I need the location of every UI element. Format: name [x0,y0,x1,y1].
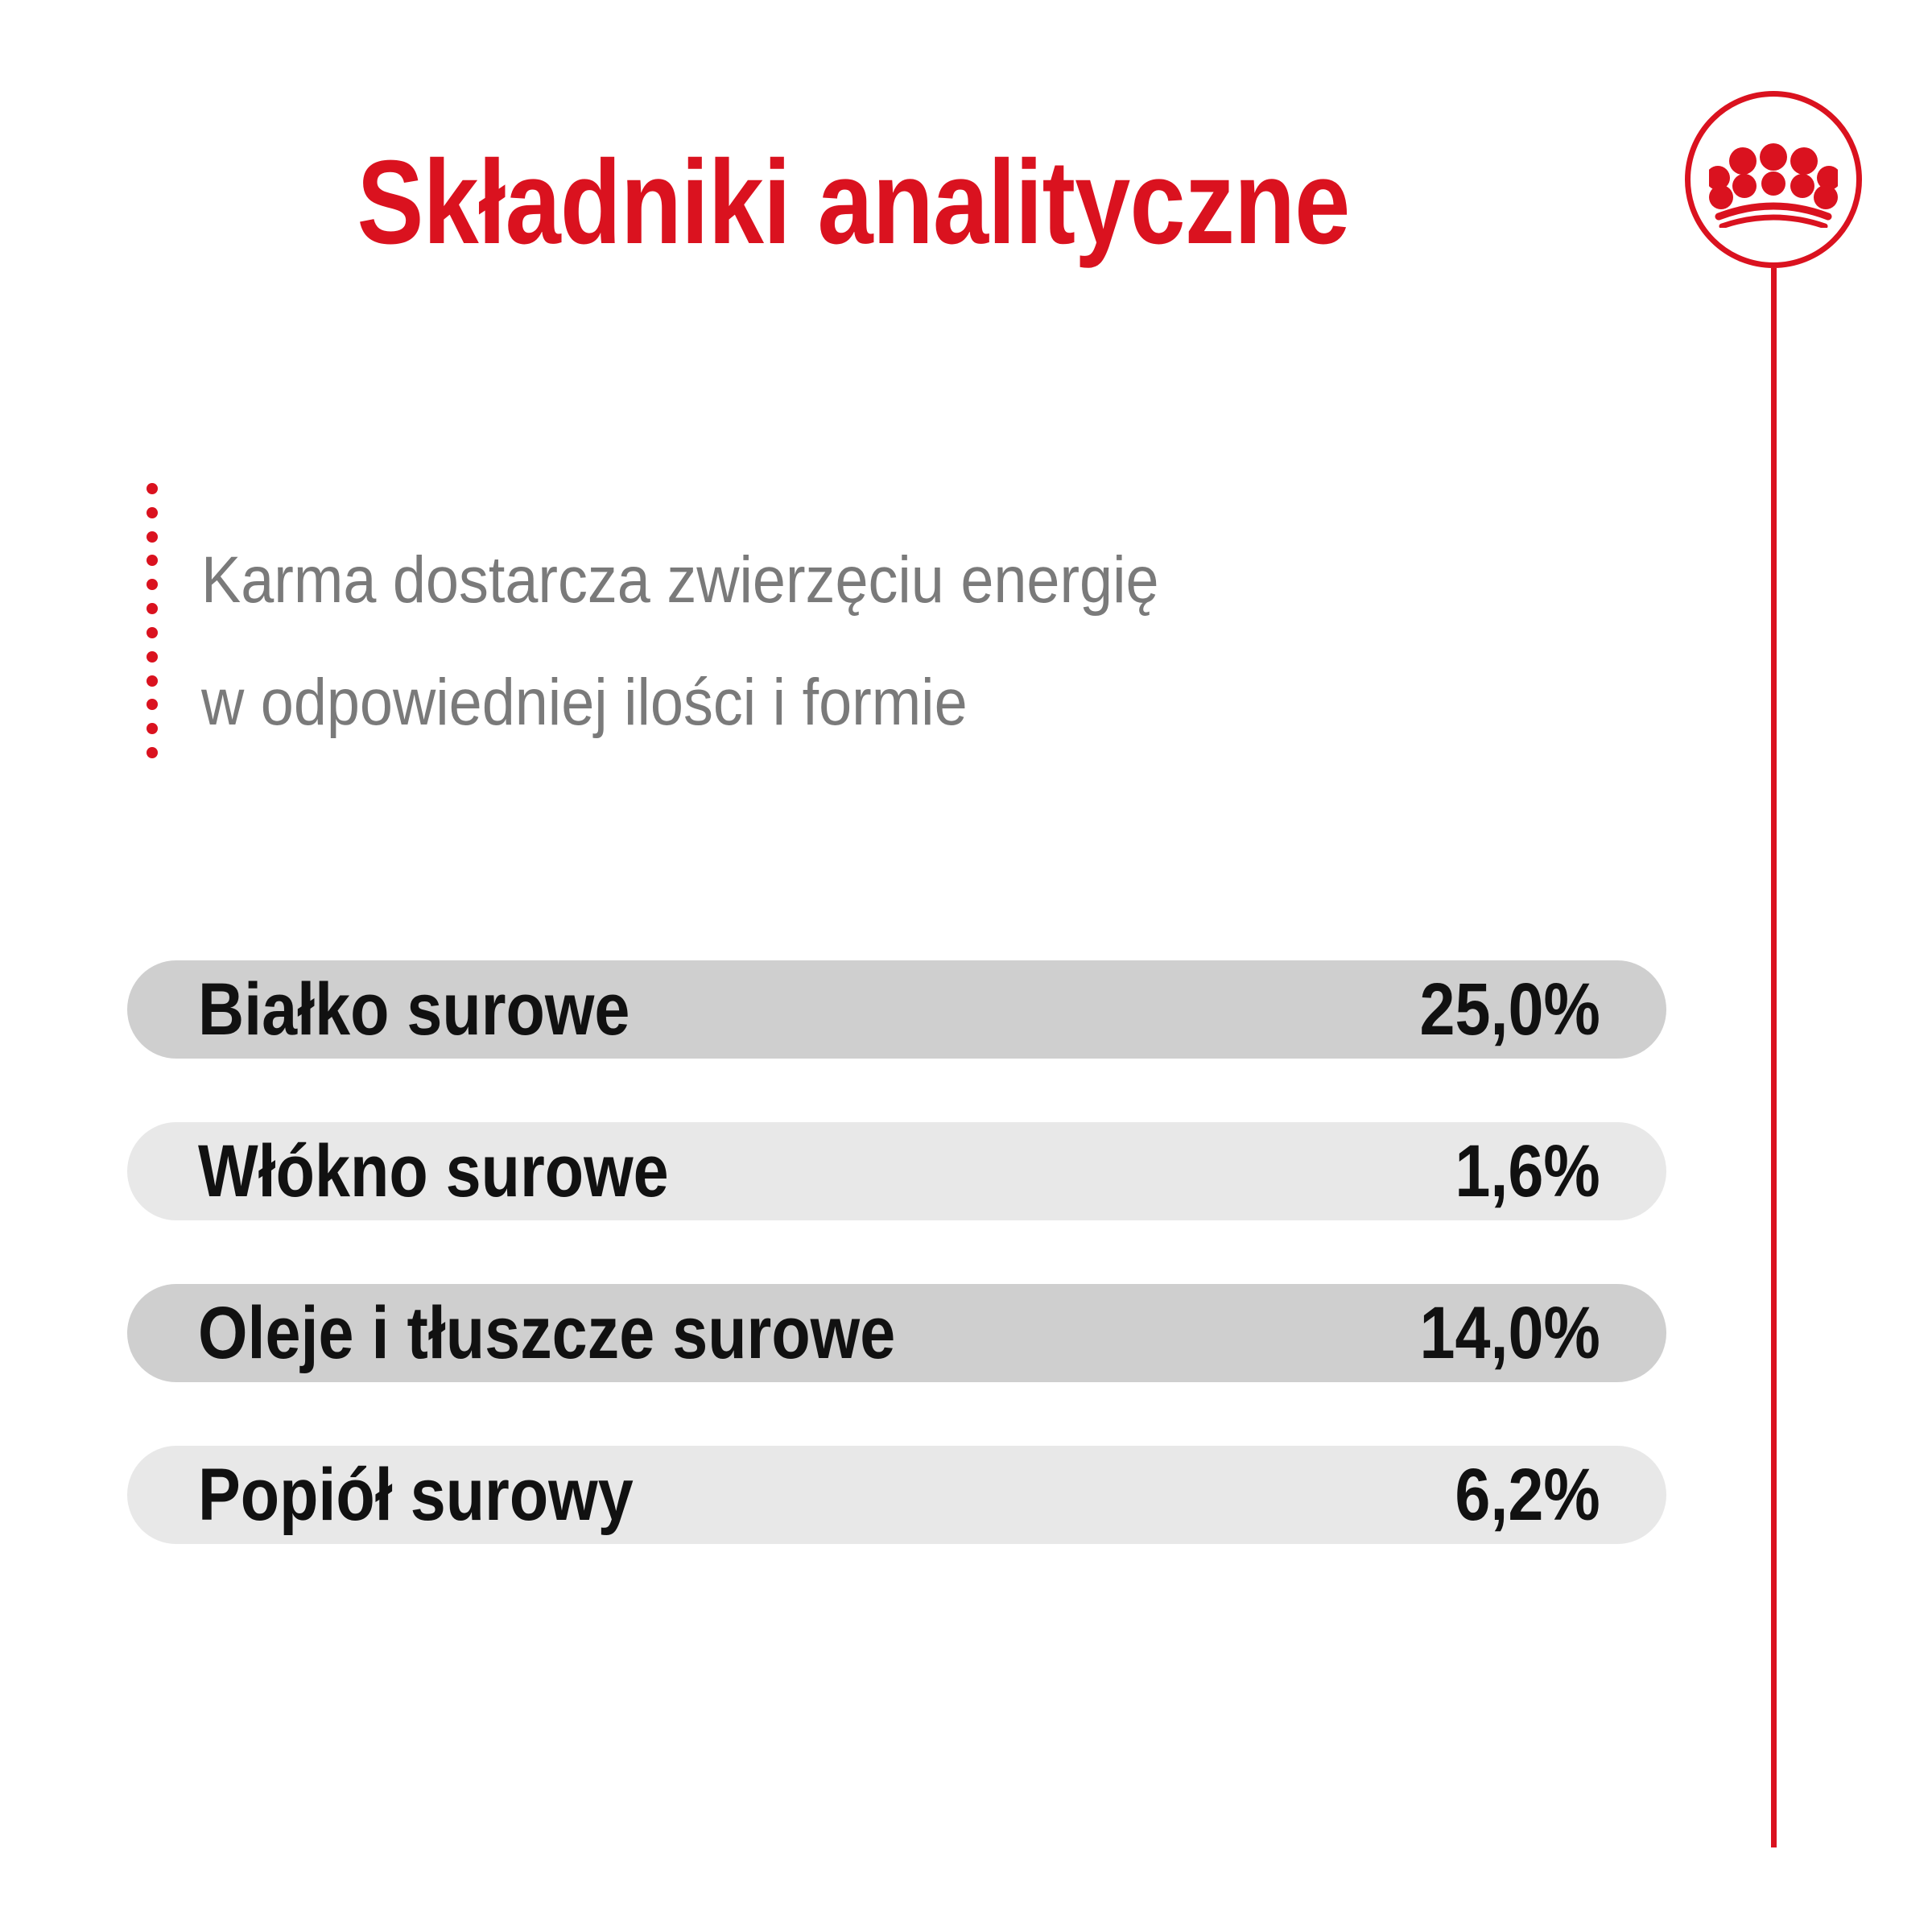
rule-dot [147,651,158,663]
nutrient-value: 25,0% [1420,972,1600,1046]
rule-dot [147,579,158,590]
subtitle: Karma dostarcza zwierzęciu energię w odp… [201,519,1360,764]
rule-dot [147,603,158,614]
nutrient-label: Popiół surowy [198,1458,634,1532]
rule-dot [147,531,158,543]
subtitle-line-2: w odpowiedniej ilości i formie [201,642,1360,764]
table-row: Białko surowe 25,0% [127,960,1666,1059]
subtitle-line-1: Karma dostarcza zwierzęciu energię [201,519,1360,642]
crown-icon [1709,139,1838,228]
rule-dot [147,627,158,638]
table-row: Popiół surowy 6,2% [127,1446,1666,1544]
table-row: Włókno surowe 1,6% [127,1122,1666,1220]
brand-logo [1685,91,1862,268]
nutrient-label: Białko surowe [198,972,630,1046]
rule-dot [147,507,158,518]
rule-dot [147,723,158,734]
rule-dot [147,483,158,494]
nutrient-value: 6,2% [1455,1458,1600,1532]
analytical-constituents-card: Składniki analityczne [0,0,1932,1932]
table-row: Oleje i tłuszcze surowe 14,0% [127,1284,1666,1382]
rule-dot [147,675,158,687]
rule-dot [147,699,158,710]
nutrient-label: Włókno surowe [198,1134,669,1208]
rule-dot [147,555,158,566]
nutrient-label: Oleje i tłuszcze surowe [198,1296,895,1370]
rule-dot [147,747,158,758]
dotted-accent-rule [147,483,158,758]
vertical-red-line [1771,268,1777,1847]
page-title: Składniki analityczne [137,143,1571,262]
nutrient-value: 1,6% [1455,1134,1600,1208]
nutrient-value: 14,0% [1420,1296,1600,1370]
analytical-constituents-table: Białko surowe 25,0% Włókno surowe 1,6% O… [127,960,1666,1608]
